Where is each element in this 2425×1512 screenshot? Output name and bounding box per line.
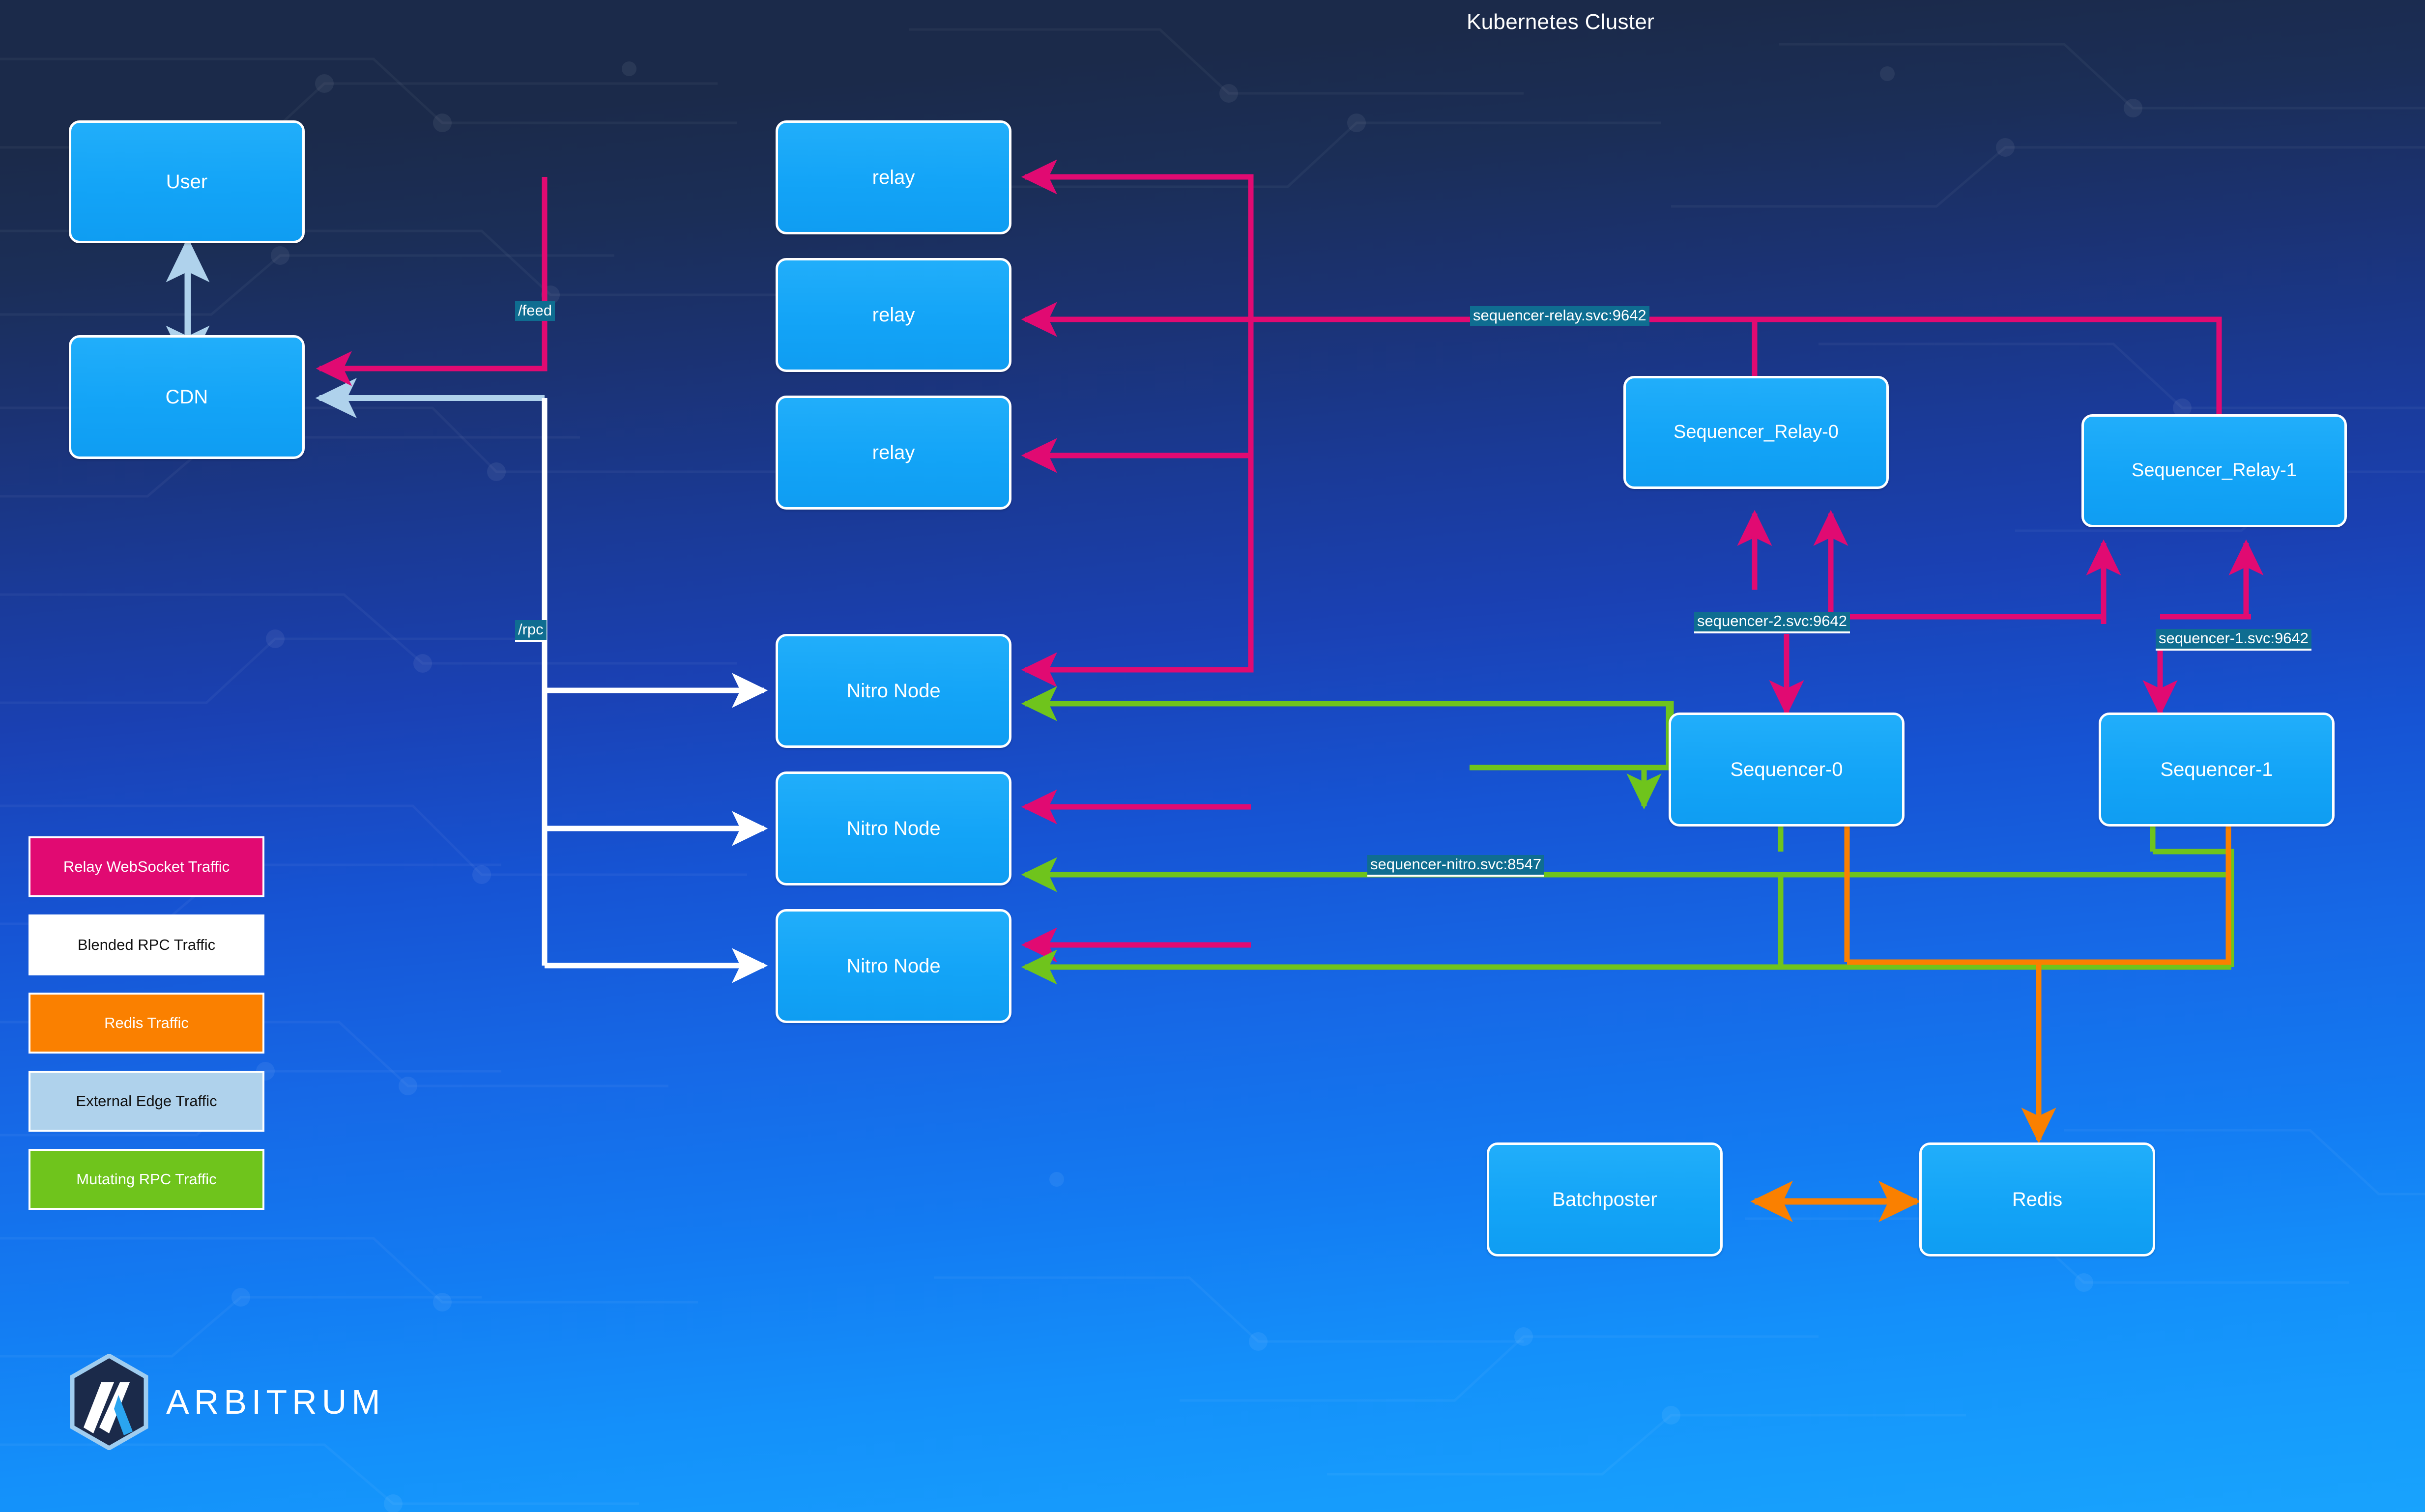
- node-nitro-1-label: Nitro Node: [846, 679, 940, 703]
- legend-label-blended-rpc: Blended RPC Traffic: [78, 936, 215, 954]
- connector-layer: [0, 0, 2425, 1512]
- circuit-background: [0, 0, 2425, 1512]
- edge-label-sequencer-2-svc: sequencer-2.svc:9642: [1694, 612, 1850, 633]
- edge-bus-to-relay-3: [1025, 319, 1251, 456]
- node-user[interactable]: User: [69, 120, 305, 243]
- edge-relay-to-nitro-1: [1025, 319, 1251, 670]
- node-relay-2[interactable]: relay: [776, 258, 1011, 372]
- edge-label-sequencer-relay-svc: sequencer-relay.svc:9642: [1470, 306, 1649, 326]
- node-sequencer-relay-1-label: Sequencer_Relay-1: [2132, 459, 2297, 482]
- edge-label-sequencer-1-svc: sequencer-1.svc:9642: [2156, 629, 2311, 651]
- node-redis[interactable]: Redis: [1919, 1142, 2155, 1256]
- legend-label-redis: Redis Traffic: [104, 1014, 189, 1032]
- node-sequencer-relay-0[interactable]: Sequencer_Relay-0: [1623, 376, 1889, 489]
- legend-item-mutating-rpc: Mutating RPC Traffic: [29, 1149, 264, 1210]
- legend: Relay WebSocket Traffic Blended RPC Traf…: [29, 836, 264, 1227]
- diagram-canvas: Kubernetes Cluster User CDN relay relay …: [0, 0, 2425, 1512]
- brand-name: ARBITRUM: [166, 1382, 385, 1422]
- legend-label-external-edge: External Edge Traffic: [76, 1092, 217, 1110]
- edge-label-sequencer-nitro-svc: sequencer-nitro.svc:8547: [1367, 855, 1544, 877]
- edge-seqrelay0-to-relay-bus: [1251, 319, 1755, 378]
- edge-redis-bus: [1847, 855, 2228, 962]
- legend-label-relay-websocket: Relay WebSocket Traffic: [63, 857, 230, 876]
- legend-item-external-edge: External Edge Traffic: [29, 1071, 264, 1132]
- legend-item-relay-websocket: Relay WebSocket Traffic: [29, 836, 264, 897]
- node-relay-3-label: relay: [872, 441, 915, 464]
- node-nitro-2[interactable]: Nitro Node: [776, 771, 1011, 885]
- node-user-label: User: [166, 170, 207, 194]
- arbitrum-logo-icon: [69, 1354, 149, 1450]
- node-redis-label: Redis: [2012, 1188, 2062, 1211]
- node-relay-1-label: relay: [872, 166, 915, 189]
- node-sequencer-relay-1[interactable]: Sequencer_Relay-1: [2081, 414, 2347, 527]
- edge-nitro1-to-sequencer0: [1025, 704, 1671, 768]
- node-sequencer-1-label: Sequencer-1: [2160, 758, 2273, 781]
- legend-item-redis: Redis Traffic: [29, 993, 264, 1054]
- legend-item-blended-rpc: Blended RPC Traffic: [29, 914, 264, 975]
- node-batchposter-label: Batchposter: [1552, 1188, 1657, 1211]
- node-relay-3[interactable]: relay: [776, 396, 1011, 510]
- edge-green-nitro1-right: [1535, 768, 1644, 806]
- edge-label-rpc: /rpc: [515, 620, 547, 642]
- node-nitro-3-label: Nitro Node: [846, 954, 940, 978]
- legend-label-mutating-rpc: Mutating RPC Traffic: [76, 1170, 216, 1188]
- node-relay-1[interactable]: relay: [776, 120, 1011, 234]
- edge-feed-to-cdn: [319, 177, 545, 369]
- node-sequencer-0-label: Sequencer-0: [1730, 758, 1843, 781]
- node-cdn[interactable]: CDN: [69, 335, 305, 459]
- node-relay-2-label: relay: [872, 303, 915, 327]
- brand-lockup: ARBITRUM: [69, 1354, 385, 1450]
- node-cdn-label: CDN: [166, 385, 208, 409]
- edge-sequencer0-green-in: [1470, 704, 1669, 768]
- node-batchposter[interactable]: Batchposter: [1487, 1142, 1723, 1256]
- page-title: Kubernetes Cluster: [1467, 10, 1654, 34]
- edge-green-seq1-bus: [1025, 852, 2231, 875]
- node-sequencer-relay-0-label: Sequencer_Relay-0: [1674, 421, 1839, 444]
- edge-bus-to-relay-1: [1025, 177, 1251, 319]
- edge-sequencer-bus-to-seqrelay0-a: [1755, 514, 1831, 617]
- node-nitro-2-label: Nitro Node: [846, 817, 940, 840]
- edge-label-feed: /feed: [515, 301, 555, 321]
- node-nitro-3[interactable]: Nitro Node: [776, 909, 1011, 1023]
- node-sequencer-0[interactable]: Sequencer-0: [1669, 713, 1905, 827]
- node-sequencer-1[interactable]: Sequencer-1: [2099, 713, 2335, 827]
- node-nitro-1[interactable]: Nitro Node: [776, 634, 1011, 748]
